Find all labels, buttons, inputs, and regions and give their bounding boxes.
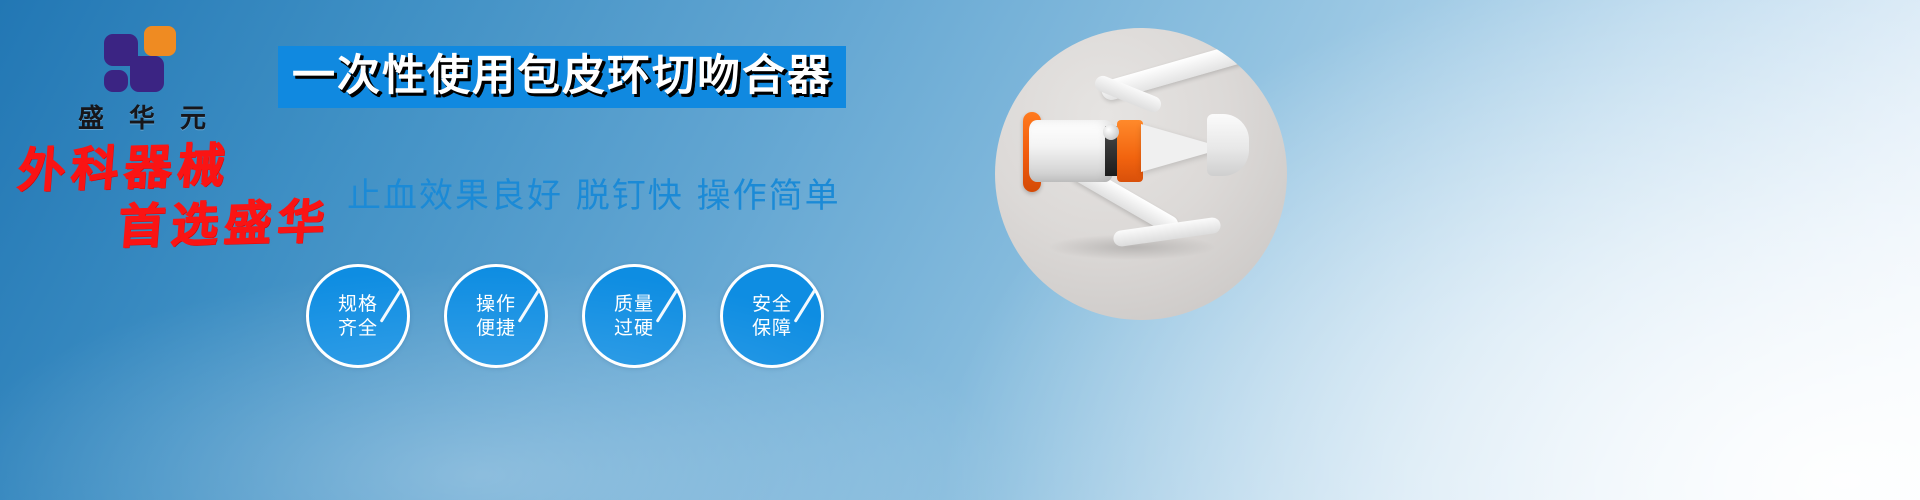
brand-logo[interactable]: 盛 华 元 — [62, 26, 222, 135]
product-photo — [995, 28, 1287, 320]
badge-label-line1: 安全 — [752, 292, 792, 316]
stapler-pivot — [1103, 124, 1119, 140]
headline-box: 一次性使用包皮环切吻合器 — [278, 46, 846, 108]
calligraphy-slogan: 外科器械 首选盛华 — [18, 148, 330, 252]
subtitle: 止血效果良好 脱钉快 操作简单 — [347, 168, 841, 217]
badge-label-line2: 便捷 — [476, 316, 516, 340]
logo-block-2 — [130, 56, 164, 92]
calligraphy-line-2: 首选盛华 — [116, 198, 332, 251]
slash-decor-icon — [380, 287, 404, 323]
slash-decor-icon — [794, 287, 818, 323]
badge-label-line2: 齐全 — [338, 316, 378, 340]
calligraphy-line-1: 外科器械 — [16, 140, 333, 196]
slash-decor-icon — [656, 287, 680, 323]
badge-label-line2: 保障 — [752, 316, 792, 340]
promo-banner: 盛 华 元 外科器械 首选盛华 一次性使用包皮环切吻合器 止血效果良好 脱钉快 … — [0, 0, 1920, 500]
badge-label-line2: 过硬 — [614, 316, 654, 340]
logo-mark-icon — [104, 26, 180, 92]
badge-label-line1: 规格 — [338, 292, 378, 316]
feature-badge[interactable]: 规格 齐全 — [306, 264, 410, 368]
feature-badge[interactable]: 安全 保障 — [720, 264, 824, 368]
logo-block-3 — [104, 70, 128, 92]
page-title: 一次性使用包皮环切吻合器 — [292, 52, 832, 100]
company-name: 盛 华 元 — [62, 98, 222, 135]
stapler-barrel — [1029, 120, 1113, 182]
badge-label-line1: 操作 — [476, 292, 516, 316]
feature-badge-list: 规格 齐全 操作 便捷 质量 过硬 安全 保障 — [306, 264, 824, 368]
feature-badge[interactable]: 质量 过硬 — [582, 264, 686, 368]
feature-badge[interactable]: 操作 便捷 — [444, 264, 548, 368]
slash-decor-icon — [518, 287, 542, 323]
badge-label-line1: 质量 — [614, 292, 654, 316]
logo-block-accent — [144, 26, 176, 56]
stapler-orange-band — [1117, 120, 1143, 182]
stapler-tip-cup — [1207, 114, 1249, 176]
